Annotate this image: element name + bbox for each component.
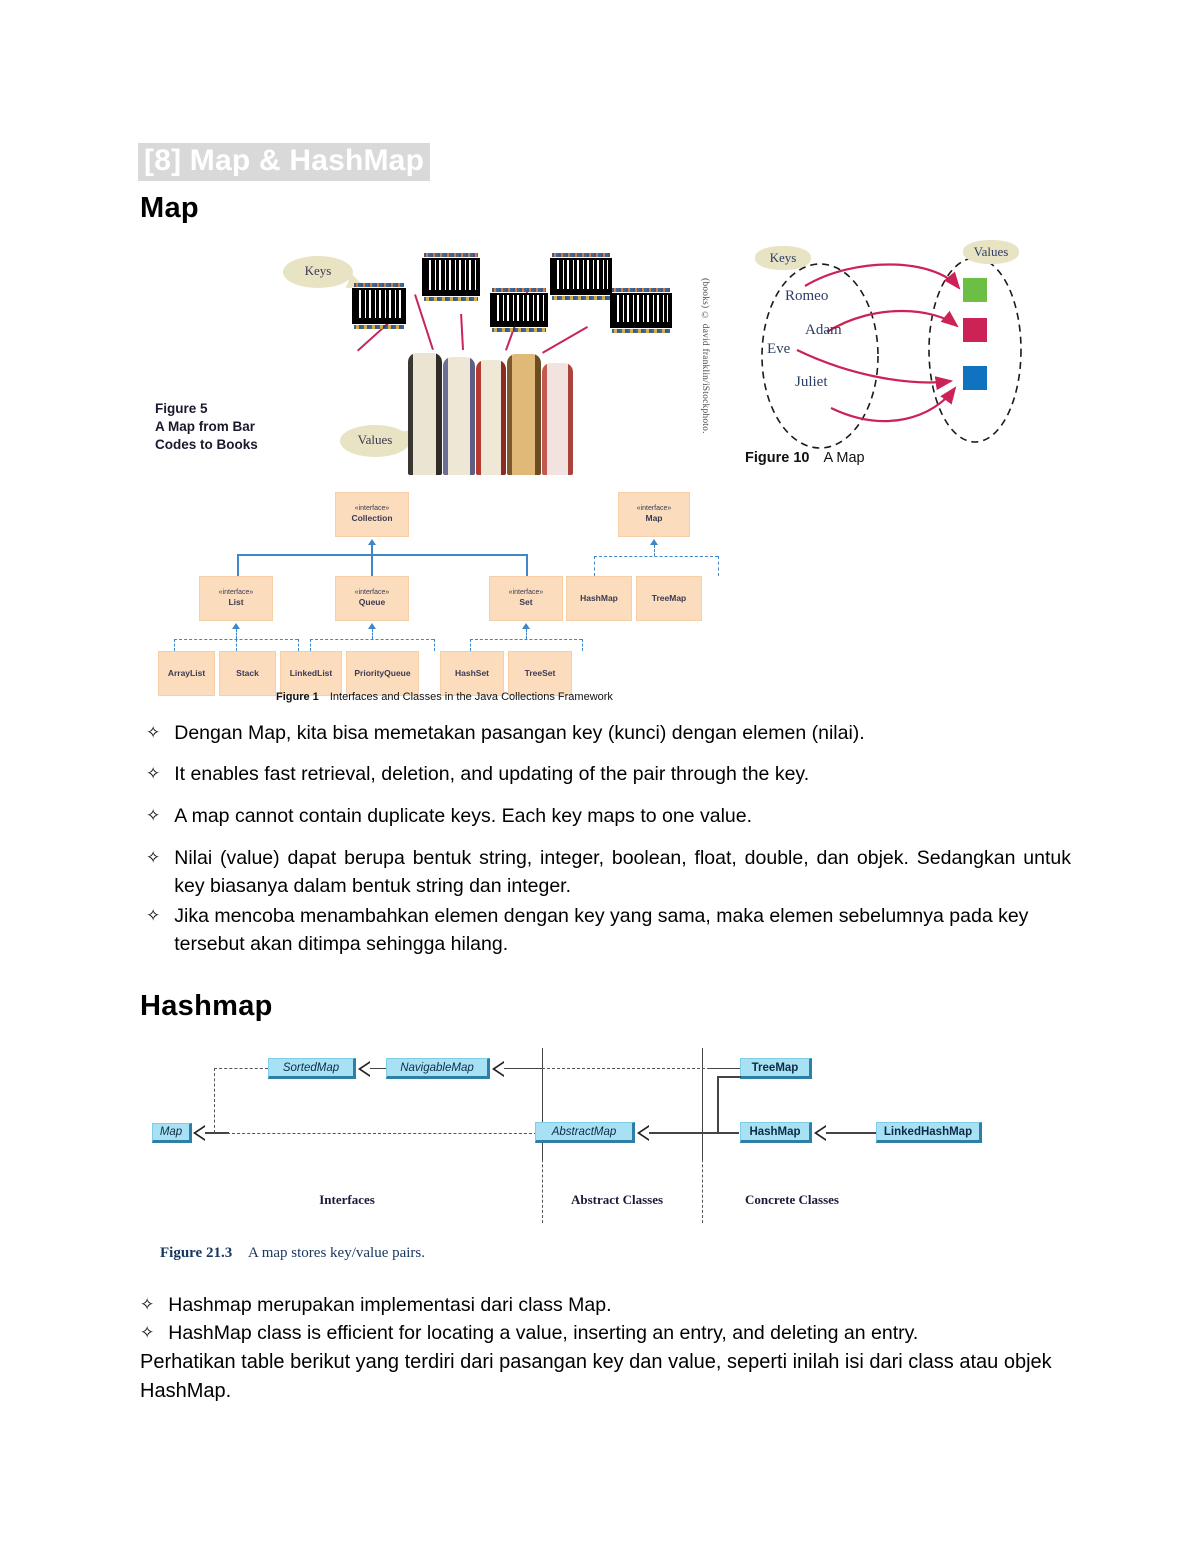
section-label-interfaces: Interfaces bbox=[282, 1192, 412, 1208]
uml213-box-linkedhashmap: LinkedHashMap bbox=[876, 1122, 982, 1143]
connector bbox=[205, 1132, 229, 1133]
barcode-1 bbox=[352, 288, 406, 324]
uml-name: ArrayList bbox=[168, 668, 205, 679]
hashmap-bullet-2: ✧ HashMap class is efficient for locatin… bbox=[140, 1320, 1080, 1348]
uml-name: Stack bbox=[236, 668, 259, 679]
book-spine bbox=[542, 363, 573, 475]
uml-box-priorityqueue: PriorityQueue bbox=[346, 651, 419, 696]
uml-name: TreeSet bbox=[525, 668, 556, 679]
figure10-caption: Figure 10 A Map bbox=[745, 450, 865, 466]
section-divider-solid bbox=[542, 1048, 543, 1160]
figure1-caption: Figure 1 Interfaces and Classes in the J… bbox=[276, 691, 613, 703]
connector-dashed bbox=[214, 1068, 268, 1069]
uml-box-arraylist: ArrayList bbox=[158, 651, 215, 696]
connector bbox=[504, 1068, 542, 1069]
figure-1-collections-framework: «interface» Collection «interface» List … bbox=[152, 492, 738, 707]
uml-box-linkedlist: LinkedList bbox=[280, 651, 342, 696]
figure10-caption-label: Figure 10 bbox=[745, 450, 809, 466]
uml-name: Queue bbox=[359, 597, 385, 608]
figure213-caption: Figure 21.3 A map stores key/value pairs… bbox=[160, 1245, 425, 1262]
figure5-leader-line bbox=[414, 294, 434, 350]
barcode-3 bbox=[490, 293, 548, 327]
generalization-arrow bbox=[814, 1125, 826, 1141]
uml213-box-navigablemap: NavigableMap bbox=[386, 1058, 490, 1079]
uml-name: Map bbox=[646, 513, 663, 524]
uml-box-hashmap: HashMap bbox=[566, 576, 632, 621]
connector bbox=[237, 554, 239, 576]
figure10-values-label: Values bbox=[963, 240, 1019, 264]
connector-dashed bbox=[310, 639, 311, 651]
uml213-box-hashmap: HashMap bbox=[740, 1122, 812, 1143]
map-bullet-1: ✧ Dengan Map, kita bisa memetakan pasang… bbox=[146, 720, 1076, 748]
connector-dashed bbox=[582, 639, 583, 651]
closing-paragraph: Perhatikan table berikut yang terdiri da… bbox=[140, 1348, 1070, 1406]
connector-dashed bbox=[372, 629, 373, 639]
connector bbox=[371, 554, 373, 576]
uml-name: HashSet bbox=[455, 668, 489, 679]
figure1-caption-text: Interfaces and Classes in the Java Colle… bbox=[330, 691, 613, 703]
bullet-marker-icon: ✧ bbox=[146, 845, 160, 871]
bullet-marker-icon: ✧ bbox=[140, 1292, 154, 1318]
generalization-arrow bbox=[358, 1061, 370, 1077]
connector bbox=[717, 1076, 741, 1078]
barcode-5 bbox=[610, 293, 672, 328]
uml-name: List bbox=[228, 597, 243, 608]
map-bullet-2: ✧ It enables fast retrieval, deletion, a… bbox=[146, 761, 1076, 789]
connector-dashed bbox=[236, 629, 237, 639]
figure5-caption-label: Figure 5 bbox=[155, 400, 258, 418]
section-divider-solid bbox=[702, 1048, 703, 1160]
bullet-text: Dengan Map, kita bisa memetakan pasangan… bbox=[174, 720, 864, 748]
figure10-value-crimson bbox=[963, 318, 987, 342]
section-heading-map: Map bbox=[140, 192, 199, 225]
figure213-caption-text: A map stores key/value pairs. bbox=[248, 1245, 425, 1261]
bullet-marker-icon: ✧ bbox=[146, 720, 160, 746]
hashmap-bullet-1: ✧ Hashmap merupakan implementasi dari cl… bbox=[140, 1292, 1080, 1320]
figure5-books-image bbox=[408, 350, 576, 475]
bullet-marker-icon: ✧ bbox=[146, 803, 160, 829]
figure-21-3-map-hierarchy: Map SortedMap NavigableMap AbstractMap T… bbox=[152, 1048, 982, 1278]
generalization-arrow bbox=[492, 1061, 504, 1077]
connector-dashed bbox=[470, 639, 471, 651]
uml-box-queue: «interface» Queue bbox=[335, 576, 409, 621]
connector bbox=[826, 1132, 878, 1133]
uml-name: HashMap bbox=[580, 593, 618, 604]
uml-stereotype: «interface» bbox=[219, 588, 254, 597]
bullet-text: A map cannot contain duplicate keys. Eac… bbox=[174, 803, 752, 831]
page-title-text: [8] Map & HashMap bbox=[138, 143, 430, 181]
map-bullet-3: ✧ A map cannot contain duplicate keys. E… bbox=[146, 803, 1076, 831]
uml213-box-abstractmap: AbstractMap bbox=[535, 1122, 635, 1143]
connector-dashed bbox=[654, 545, 655, 556]
uml-box-set: «interface» Set bbox=[489, 576, 563, 621]
connector-dashed bbox=[298, 639, 299, 651]
uml-name: PriorityQueue bbox=[354, 668, 410, 679]
figure10-caption-text: A Map bbox=[824, 450, 865, 466]
connector-dashed bbox=[174, 639, 175, 651]
uml213-box-sortedmap: SortedMap bbox=[268, 1058, 356, 1079]
document-page: [8] Map & HashMap Map Keys Values bbox=[0, 0, 1200, 1553]
connector bbox=[237, 554, 527, 556]
connector bbox=[649, 1132, 739, 1133]
map-bullet-4: ✧ Nilai (value) dapat berupa bentuk stri… bbox=[146, 845, 1071, 900]
uml-name: Collection bbox=[351, 513, 392, 524]
page-title: [8] Map & HashMap bbox=[138, 143, 430, 181]
uml-name: Set bbox=[519, 597, 532, 608]
figure10-value-blue bbox=[963, 366, 987, 390]
bullet-marker-icon: ✧ bbox=[140, 1320, 154, 1346]
figure10-key-romeo: Romeo bbox=[785, 288, 828, 305]
map-bullet-5: ✧ Jika mencoba menambahkan elemen dengan… bbox=[146, 903, 1076, 958]
section-heading-hashmap: Hashmap bbox=[140, 990, 273, 1023]
uml-box-map-interface: «interface» Map bbox=[618, 492, 690, 537]
book-spine bbox=[408, 353, 442, 475]
bullet-marker-icon: ✧ bbox=[146, 903, 160, 929]
connector-dashed bbox=[542, 1068, 710, 1069]
bullet-text: Hashmap merupakan implementasi dari clas… bbox=[168, 1292, 611, 1320]
connector-dashed bbox=[434, 639, 435, 651]
bullet-text: Nilai (value) dapat berupa bentuk string… bbox=[174, 845, 1071, 900]
bullet-text: It enables fast retrieval, deletion, and… bbox=[174, 761, 809, 789]
barcode-4 bbox=[550, 258, 612, 295]
bullet-marker-icon: ✧ bbox=[146, 761, 160, 787]
figure10-value-green bbox=[963, 278, 987, 302]
book-spine bbox=[507, 354, 541, 475]
uml-box-treeset: TreeSet bbox=[508, 651, 572, 696]
figure1-caption-label: Figure 1 bbox=[276, 691, 319, 703]
uml-stereotype: «interface» bbox=[355, 588, 390, 597]
uml213-box-treemap: TreeMap bbox=[740, 1058, 812, 1079]
section-label-concrete-classes: Concrete Classes bbox=[707, 1192, 877, 1208]
uml-stereotype: «interface» bbox=[637, 504, 672, 513]
generalization-arrow bbox=[193, 1125, 205, 1141]
uml-name: LinkedList bbox=[290, 668, 333, 679]
connector-dashed bbox=[470, 639, 582, 640]
figure10-key-eve: Eve bbox=[767, 341, 790, 358]
uml-box-stack: Stack bbox=[219, 651, 276, 696]
figure5-caption-line2: A Map from Bar bbox=[155, 418, 258, 436]
figure5-values-callout: Values bbox=[340, 425, 410, 457]
figure5-caption-line3: Codes to Books bbox=[155, 436, 258, 454]
connector-dashed bbox=[526, 629, 527, 639]
figure5-leader-line bbox=[460, 314, 464, 350]
figure5-keys-callout: Keys bbox=[283, 256, 353, 288]
connector-dashed bbox=[594, 556, 595, 576]
figure10-key-adam: Adam bbox=[805, 322, 842, 339]
uml-stereotype: «interface» bbox=[509, 588, 544, 597]
uml-box-hashset: HashSet bbox=[440, 651, 504, 696]
figure5-photo-credit: (books) © david franklin/iStockphoto. bbox=[700, 278, 710, 434]
uml213-box-map: Map bbox=[152, 1123, 192, 1143]
connector-dashed bbox=[310, 639, 434, 640]
connector-dashed bbox=[594, 556, 718, 557]
figure213-caption-label: Figure 21.3 bbox=[160, 1245, 232, 1261]
book-spine bbox=[476, 360, 506, 475]
barcode-2 bbox=[422, 258, 480, 296]
connector bbox=[717, 1076, 719, 1133]
book-spine bbox=[443, 357, 475, 475]
uml-box-treemap: TreeMap bbox=[636, 576, 702, 621]
uml-name: TreeMap bbox=[652, 593, 687, 604]
generalization-arrow bbox=[637, 1125, 649, 1141]
connector-dashed bbox=[227, 1133, 537, 1134]
connector-dashed bbox=[214, 1068, 215, 1133]
figure10-key-juliet: Juliet bbox=[795, 374, 828, 391]
bullet-text: HashMap class is efficient for locating … bbox=[168, 1320, 918, 1348]
uml-stereotype: «interface» bbox=[355, 504, 390, 513]
connector-dashed bbox=[236, 639, 237, 651]
connector bbox=[708, 1068, 740, 1069]
figure-10-a-map: Keys Values Romeo Adam Eve Juliet bbox=[735, 238, 1055, 468]
uml-box-list: «interface» List bbox=[199, 576, 273, 621]
uml-box-collection: «interface» Collection bbox=[335, 492, 409, 537]
connector bbox=[526, 554, 528, 576]
figure5-caption: Figure 5 A Map from Bar Codes to Books bbox=[155, 400, 258, 454]
bullet-text: Jika mencoba menambahkan elemen dengan k… bbox=[174, 903, 1076, 958]
figure10-keys-label: Keys bbox=[755, 246, 811, 270]
connector-dashed bbox=[718, 556, 719, 576]
section-label-abstract-classes: Abstract Classes bbox=[552, 1192, 682, 1208]
